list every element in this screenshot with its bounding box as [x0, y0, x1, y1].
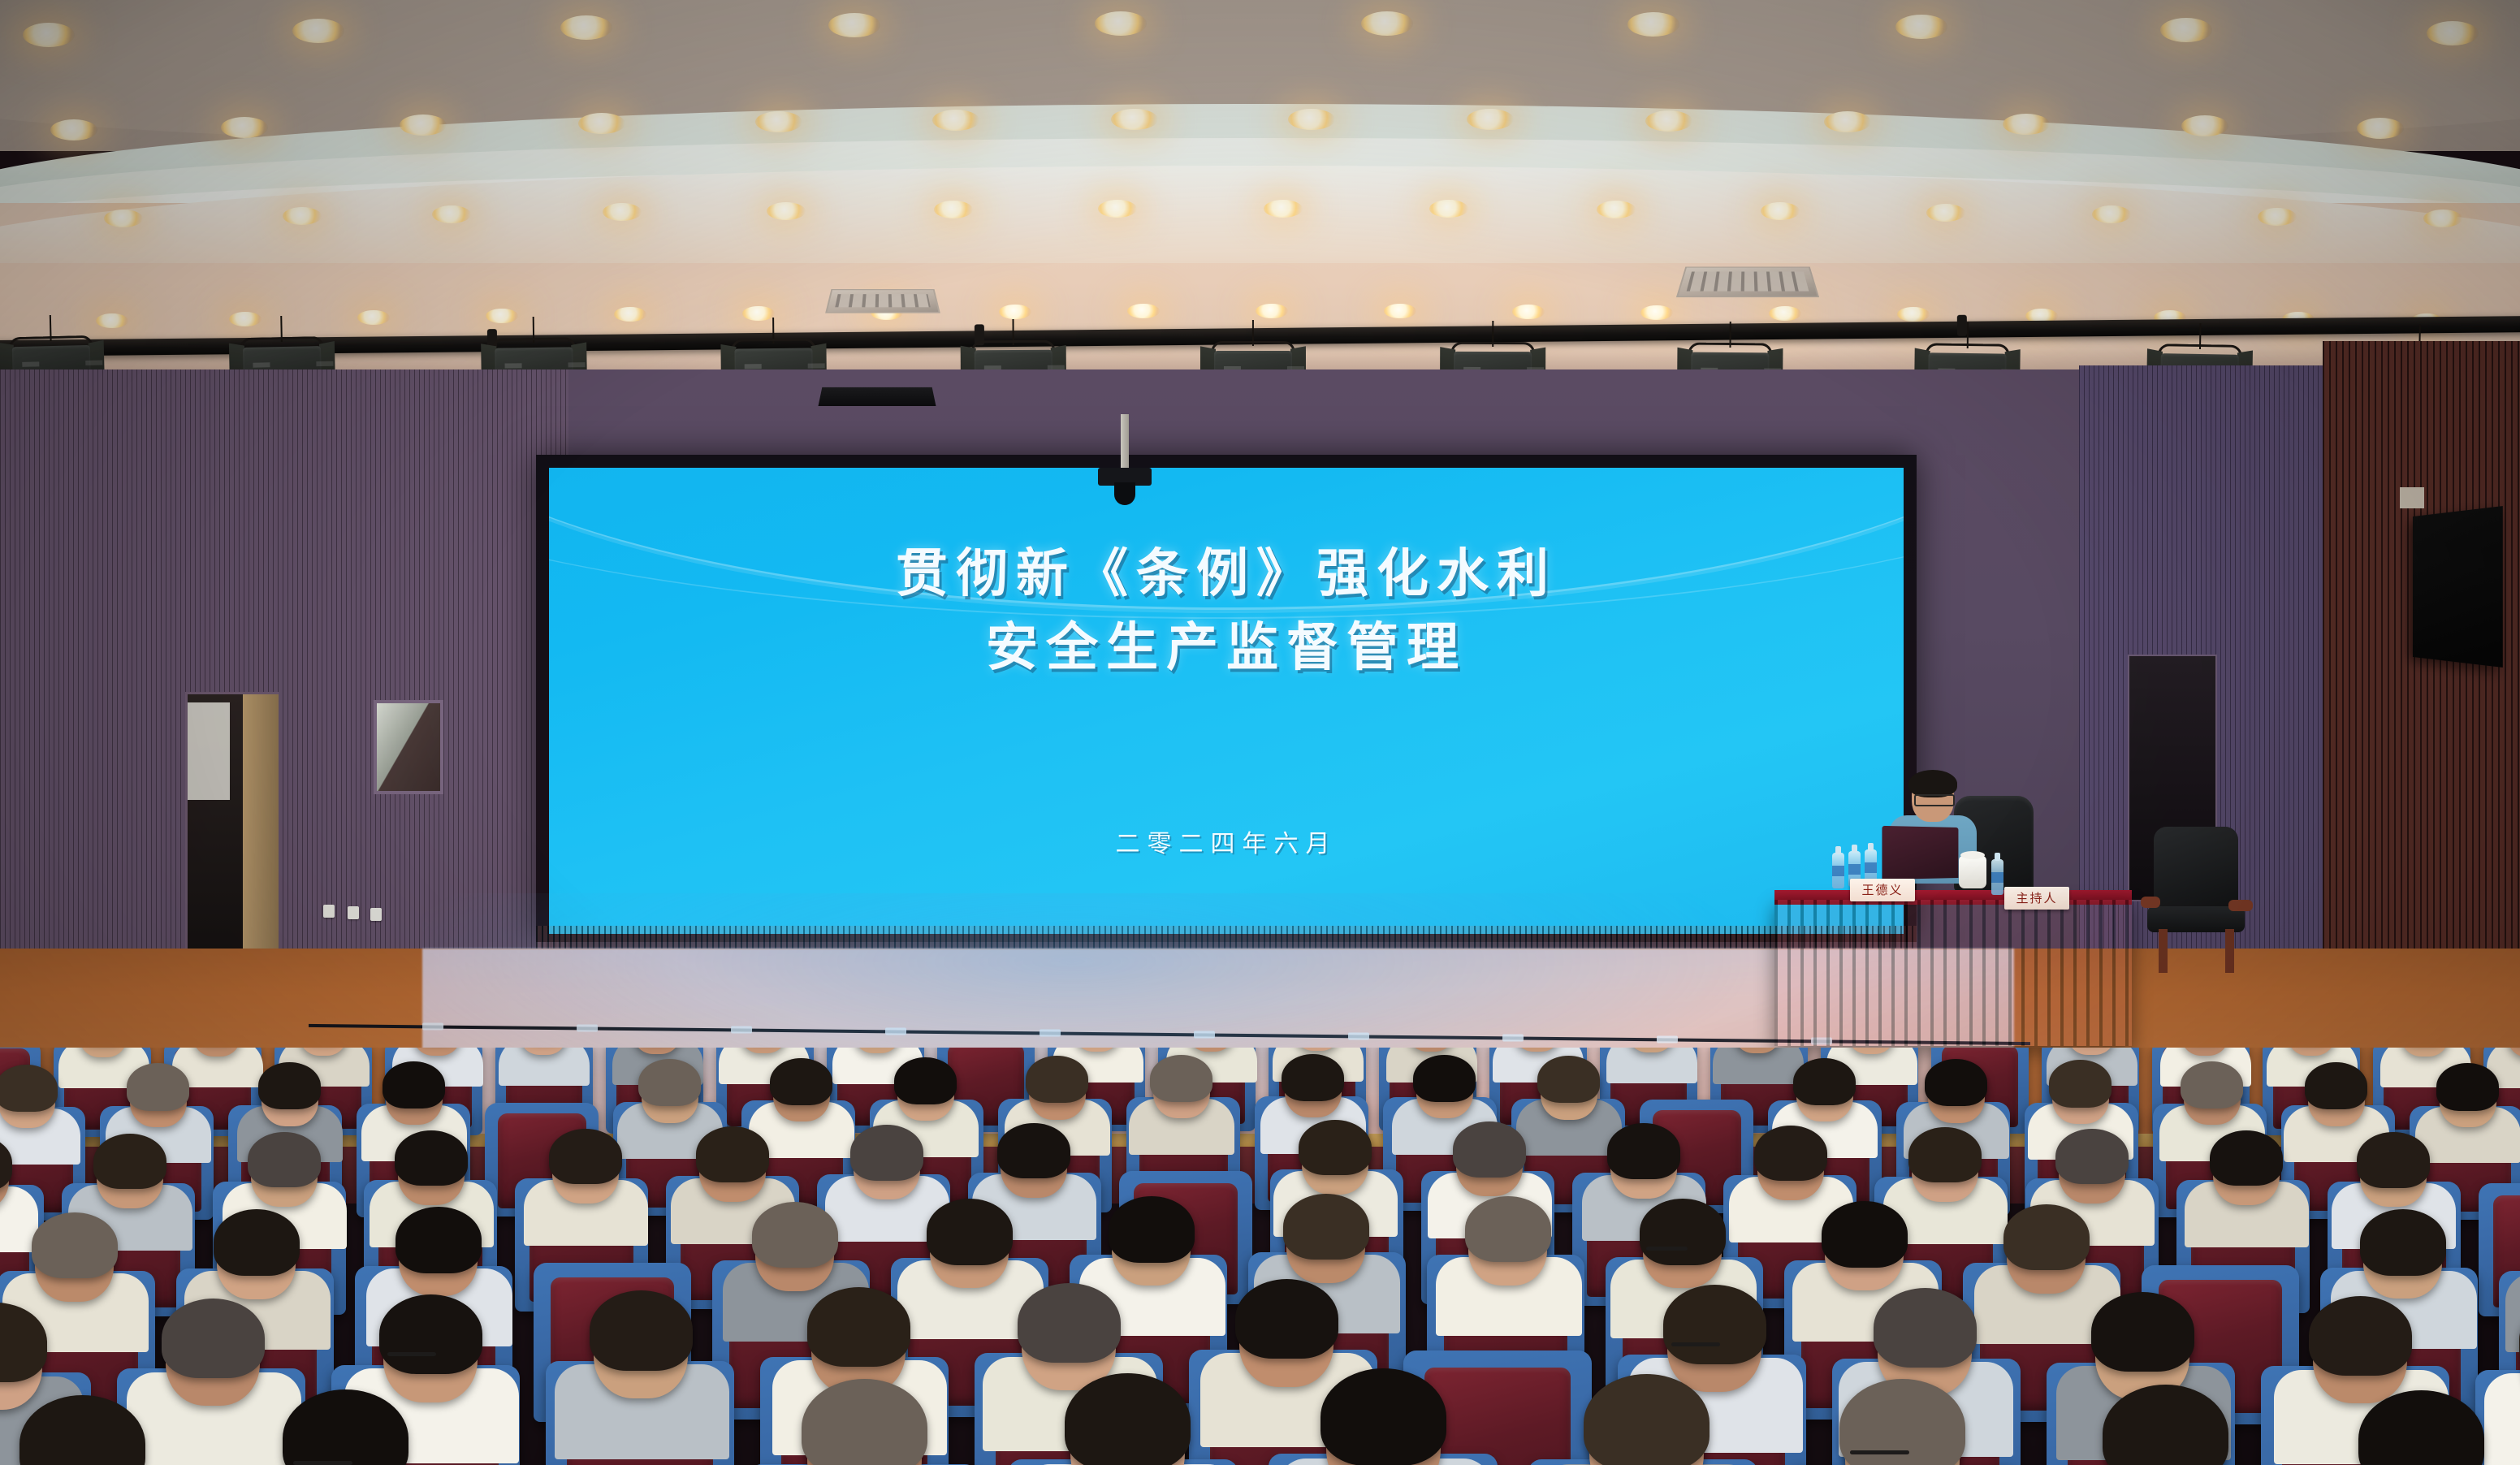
ceiling-downlight [1640, 305, 1673, 320]
ceiling-downlight [486, 309, 518, 323]
camera-lens-icon [1114, 482, 1135, 505]
audience-person-hair [32, 1212, 119, 1279]
side-chair[interactable] [2144, 827, 2248, 971]
audience-person-hair [1874, 1288, 1978, 1368]
water-bottle [1832, 853, 1844, 888]
ceiling-downlight [1645, 110, 1692, 132]
audience-person-hair [2305, 1062, 2367, 1109]
ceiling-downlight [560, 15, 612, 40]
nameplate-speaker: 王德义 [1850, 879, 1915, 901]
ceiling-downlight [283, 207, 322, 225]
door-backlight [188, 702, 230, 800]
ceiling-downlight [357, 310, 390, 325]
ceiling-downlight [1769, 306, 1801, 321]
audience-person-hair [1299, 1120, 1372, 1175]
audience-person-hair [997, 1123, 1070, 1178]
audience-person-hair [1822, 1201, 1908, 1268]
ceiling-downlight [1361, 11, 1413, 36]
audience-person-hair [2357, 1132, 2430, 1187]
ceiling-downlight [932, 110, 979, 131]
slide-title-line2: 安全生产监督管理 [549, 611, 1904, 685]
led-screen-frame: 贯彻新《条例》强化水利 安全生产监督管理 二零二四年六月 [536, 455, 1917, 942]
audience-person-hair [850, 1125, 923, 1180]
audience-person-hair [1283, 1194, 1370, 1260]
audience-person-hair [638, 1059, 701, 1106]
light-switch[interactable] [323, 905, 335, 918]
ac-vent-icon [825, 289, 940, 313]
audience-person-hair [2003, 1204, 2090, 1271]
door-leaf [243, 694, 279, 985]
teacup [1959, 856, 1986, 888]
wall-window [374, 700, 443, 794]
audience-person-hair [2091, 1292, 2195, 1372]
wall-panel-left [0, 369, 568, 1011]
audience-person-hair [752, 1202, 839, 1268]
audience-person-hair [2436, 1063, 2499, 1110]
audience-person-hair [258, 1062, 321, 1109]
audience-seating-area [0, 1048, 2520, 1465]
ceiling-downlight [2357, 118, 2404, 139]
ceiling-downlight [1288, 109, 1335, 130]
ceiling-downlight [432, 205, 471, 223]
ceiling-downlight [2092, 205, 2131, 223]
ceiling-downlight [934, 201, 973, 218]
ceiling-downlight [1256, 304, 1288, 318]
light-switch[interactable] [348, 906, 359, 919]
audience-person-hair [1321, 1368, 1446, 1465]
audience-person-hair [1065, 1373, 1191, 1465]
audience-person-hair [1018, 1283, 1122, 1363]
audience-person-hair [1663, 1285, 1767, 1364]
ceiling-downlight [828, 13, 880, 37]
slide-title: 贯彻新《条例》强化水利 安全生产监督管理 [549, 538, 1904, 685]
audience-person-hair [127, 1063, 189, 1110]
audience-person-shoulders [2484, 1373, 2520, 1465]
audience-person-shoulders [1606, 1048, 1697, 1083]
audience-person-hair [2309, 1296, 2413, 1376]
audience-person-hair [396, 1207, 482, 1273]
speaker-bracket [2400, 487, 2424, 508]
audience-person-hair [807, 1287, 911, 1367]
laptop[interactable] [1882, 826, 1958, 879]
audience-person-hair [1109, 1196, 1195, 1263]
ceiling-downlight [2160, 18, 2212, 42]
stage-door-left[interactable] [185, 692, 279, 985]
wall-speaker-left [819, 387, 936, 406]
led-display[interactable]: 贯彻新《条例》强化水利 安全生产监督管理 二零二四年六月 [549, 468, 1904, 934]
wall-speaker-right [2413, 506, 2503, 668]
audience-person-hair [383, 1061, 445, 1108]
ceiling-downlight [767, 202, 806, 220]
audience-person-hair [379, 1294, 483, 1374]
audience-person-hair [549, 1129, 622, 1184]
audience-person-hair [395, 1130, 468, 1186]
ceiling-downlight [221, 117, 268, 138]
ceiling-downlight [2003, 114, 2050, 135]
audience-person-hair [2049, 1060, 2112, 1107]
light-switch[interactable] [370, 908, 382, 921]
audience-person-hair [590, 1290, 694, 1370]
audience-person-hair [1453, 1121, 1526, 1177]
glasses-icon [387, 1352, 436, 1356]
ceiling-downlight [755, 111, 802, 132]
audience-person-hair [2210, 1130, 2283, 1186]
audience-person-hair [1465, 1196, 1552, 1263]
ceiling-downlight [50, 119, 97, 140]
ceiling-downlight [1264, 200, 1303, 218]
audience-person-hair [1150, 1055, 1212, 1102]
audience-person-hair [1537, 1056, 1600, 1103]
audience-person-hair [2360, 1209, 2447, 1276]
ceiling-downlight [229, 312, 262, 326]
ceiling-downlight [1895, 15, 1947, 39]
audience-person-hair [894, 1057, 957, 1104]
slide-date: 二零二四年六月 [549, 823, 1904, 859]
ceiling-downlight [1512, 305, 1545, 319]
ceiling-downlight [1926, 204, 1965, 222]
audience-person-hair [927, 1199, 1014, 1265]
audience-person-hair [696, 1126, 769, 1182]
ceiling-downlight [999, 305, 1031, 319]
audience-person-hair [214, 1209, 300, 1276]
ac-vent-icon [1676, 266, 1819, 297]
audience-person-hair [1754, 1126, 1827, 1181]
audience-person-hair [1282, 1054, 1344, 1101]
glasses-icon [1914, 794, 1955, 806]
audience-person-hair [93, 1134, 166, 1189]
glasses-icon [293, 1461, 352, 1465]
ceiling-downlight [2258, 208, 2297, 226]
glasses-icon [1850, 1450, 1909, 1454]
audience-person-hair [248, 1132, 321, 1187]
ceiling-downlight [578, 113, 625, 134]
slide-title-line1: 贯彻新《条例》强化水利 [549, 538, 1904, 611]
ceiling-camera-pole [1121, 414, 1129, 474]
audience-person-hair [2055, 1129, 2129, 1184]
head-table [1774, 900, 2132, 1046]
water-bottle [1991, 859, 2003, 895]
wall-panel-far-right [2323, 341, 2520, 1023]
nameplate-host: 主持人 [2004, 887, 2069, 910]
ceiling-downlight [292, 19, 344, 43]
audience-person-hair [1235, 1279, 1339, 1359]
audience-person-hair [1908, 1127, 1982, 1182]
audience-person-hair [1607, 1123, 1680, 1178]
audience-person-hair [1413, 1055, 1476, 1102]
ceiling-downlight [742, 306, 775, 321]
audience-person-hair [1026, 1056, 1088, 1103]
audience-person-hair [1640, 1199, 1727, 1265]
ceiling-downlight [1761, 202, 1800, 220]
audience-person-hair [0, 1065, 58, 1112]
audience-person-hair [770, 1058, 832, 1105]
audience-person-hair [1925, 1059, 1987, 1106]
glasses-icon [1671, 1342, 1720, 1346]
audience-person-hair [2181, 1061, 2243, 1108]
audience-person-hair [1793, 1058, 1856, 1105]
auditorium-scene: 贯彻新《条例》强化水利 安全生产监督管理 二零二四年六月 [0, 0, 2520, 1465]
audience-person-hair [162, 1299, 266, 1378]
ceiling-downlight [23, 23, 75, 47]
glasses-icon [1646, 1247, 1687, 1251]
